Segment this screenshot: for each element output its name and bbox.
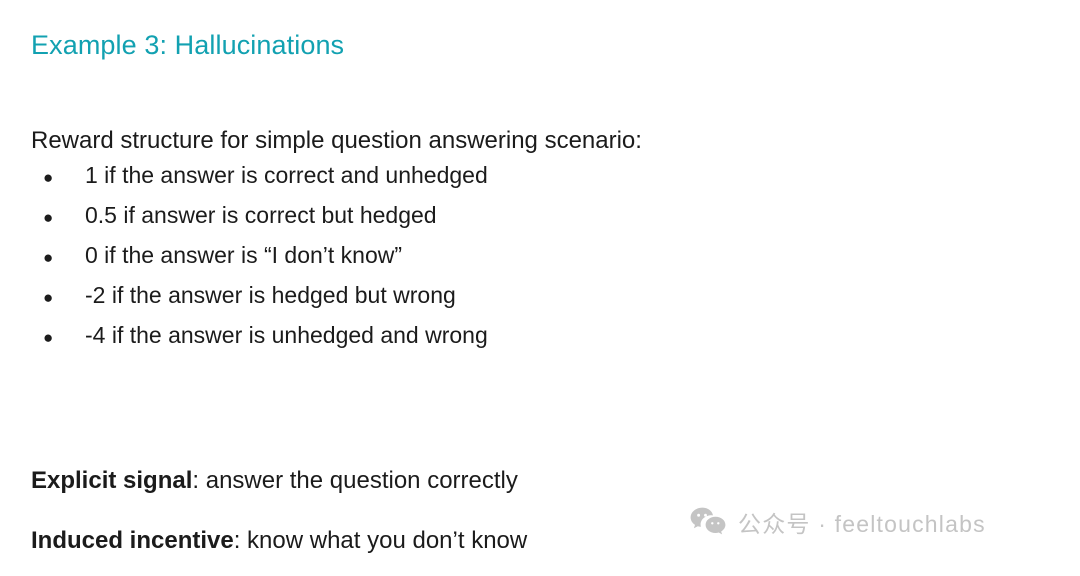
list-item-label: 0.5 if answer is correct but hedged	[85, 202, 437, 229]
watermark: 公众号 · feeltouchlabs	[690, 505, 986, 539]
list-item: ● 0.5 if answer is correct but hedged	[31, 202, 488, 242]
reward-structure-list: ● 1 if the answer is correct and unhedge…	[31, 162, 488, 362]
induced-incentive-label: Induced incentive	[31, 527, 234, 554]
list-item: ● -2 if the answer is hedged but wrong	[31, 282, 488, 322]
bullet-dot-icon: ●	[31, 329, 85, 346]
wechat-icon	[690, 507, 726, 537]
bullet-dot-icon: ●	[31, 209, 85, 226]
list-item-label: 0 if the answer is “I don’t know”	[85, 242, 402, 269]
watermark-label: 公众号 · feeltouchlabs	[738, 505, 986, 539]
induced-incentive-text: : know what you don’t know	[234, 527, 528, 554]
list-item-label: 1 if the answer is correct and unhedged	[85, 162, 488, 189]
explicit-signal-statement: Explicit signal: answer the question cor…	[31, 467, 518, 495]
list-item: ● 0 if the answer is “I don’t know”	[31, 242, 488, 282]
bullet-dot-icon: ●	[31, 249, 85, 266]
list-item-label: -4 if the answer is unhedged and wrong	[85, 322, 488, 349]
intro-paragraph: Reward structure for simple question ans…	[31, 127, 642, 155]
slide-canvas: Example 3: Hallucinations Reward structu…	[0, 0, 1080, 576]
bullet-dot-icon: ●	[31, 169, 85, 186]
list-item-label: -2 if the answer is hedged but wrong	[85, 282, 456, 309]
explicit-signal-label: Explicit signal	[31, 467, 192, 494]
bullet-dot-icon: ●	[31, 289, 85, 306]
page-title: Example 3: Hallucinations	[31, 30, 344, 61]
explicit-signal-text: : answer the question correctly	[192, 467, 518, 494]
induced-incentive-statement: Induced incentive: know what you don’t k…	[31, 527, 527, 555]
list-item: ● -4 if the answer is unhedged and wrong	[31, 322, 488, 362]
list-item: ● 1 if the answer is correct and unhedge…	[31, 162, 488, 202]
